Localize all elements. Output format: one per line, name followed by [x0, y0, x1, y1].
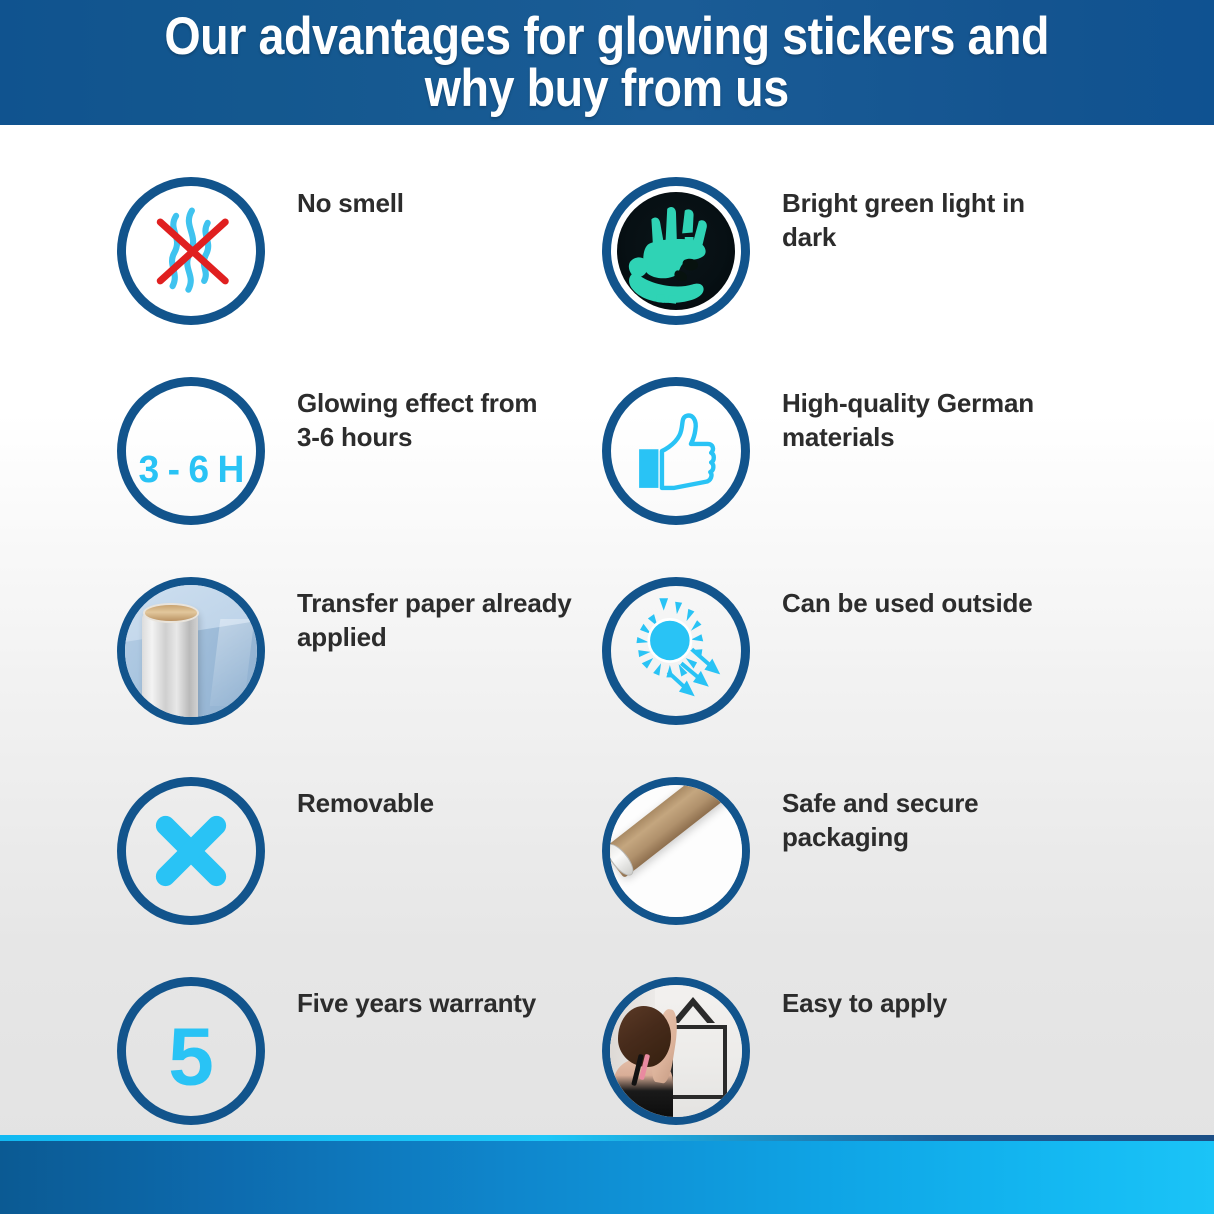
decal-house-shape — [669, 1025, 727, 1099]
tube-end-cap — [602, 840, 637, 880]
feature-no-smell: No smell — [117, 177, 597, 325]
paper-roll-body — [142, 609, 197, 720]
advantages-infographic: Our advantages for glowing stickers and … — [0, 0, 1214, 1214]
feature-label: Can be used outside — [782, 586, 1032, 620]
cross-x-glyph — [126, 786, 256, 916]
feature-transfer-paper: Transfer paper already applied — [117, 577, 597, 725]
paper-sheet-edge — [209, 619, 254, 706]
feature-bright-green-light: Bright green light in dark — [602, 177, 1082, 325]
woman-applying-decal-photo — [602, 977, 750, 1125]
thumbs-up-icon — [602, 377, 750, 525]
hours-badge-icon: 3 - 6 H — [117, 377, 265, 525]
page-title: Our advantages for glowing stickers and … — [151, 11, 1064, 115]
feature-label: Removable — [297, 786, 434, 820]
sun-rays-glyph — [611, 586, 741, 716]
paper-photo-背景 — [125, 585, 257, 717]
feature-label: Easy to apply — [782, 986, 947, 1020]
feature-glowing-duration: 3 - 6 H Glowing effect from 3-6 hours — [117, 377, 597, 525]
apply-photo-background — [610, 985, 742, 1117]
cross-x-icon — [117, 777, 265, 925]
tube-photo-background — [610, 785, 742, 917]
smoke-crossed-out-icon — [117, 177, 265, 325]
feature-label: Bright green light in dark — [782, 186, 1082, 255]
feature-label: High-quality German materials — [782, 386, 1082, 455]
feature-warranty: 5 Five years warranty — [117, 977, 597, 1125]
handprint-glyph — [611, 186, 741, 316]
feature-removable: Removable — [117, 777, 597, 925]
header-banner: Our advantages for glowing stickers and … — [0, 0, 1214, 125]
transfer-paper-roll-photo — [117, 577, 265, 725]
glowing-handprint-icon — [602, 177, 750, 325]
feature-grid: No smell — [0, 125, 1214, 1135]
feature-label: Five years warranty — [297, 986, 536, 1020]
feature-label: Transfer paper already applied — [297, 586, 572, 655]
feature-secure-packaging: Safe and secure packaging — [602, 777, 1082, 925]
feature-label: Safe and secure packaging — [782, 786, 1082, 855]
mailing-tube-photo — [602, 777, 750, 925]
thumbs-up-glyph — [611, 386, 741, 516]
feature-german-materials: High-quality German materials — [602, 377, 1082, 525]
feature-easy-to-apply: Easy to apply — [602, 977, 1082, 1125]
feature-label: No smell — [297, 186, 404, 220]
hours-badge-text: 3 - 6 H — [127, 451, 254, 489]
smoke-crossed-out-glyph — [126, 186, 256, 316]
feature-label: Glowing effect from 3-6 hours — [297, 386, 537, 455]
sun-with-rays-icon — [602, 577, 750, 725]
number-badge-icon: 5 — [117, 977, 265, 1125]
decal-roof-shape — [671, 997, 715, 1023]
feature-outdoor-use: Can be used outside — [602, 577, 1082, 725]
footer-banner — [0, 1141, 1214, 1214]
warranty-number-text: 5 — [126, 1017, 256, 1099]
tube-body — [602, 777, 746, 878]
